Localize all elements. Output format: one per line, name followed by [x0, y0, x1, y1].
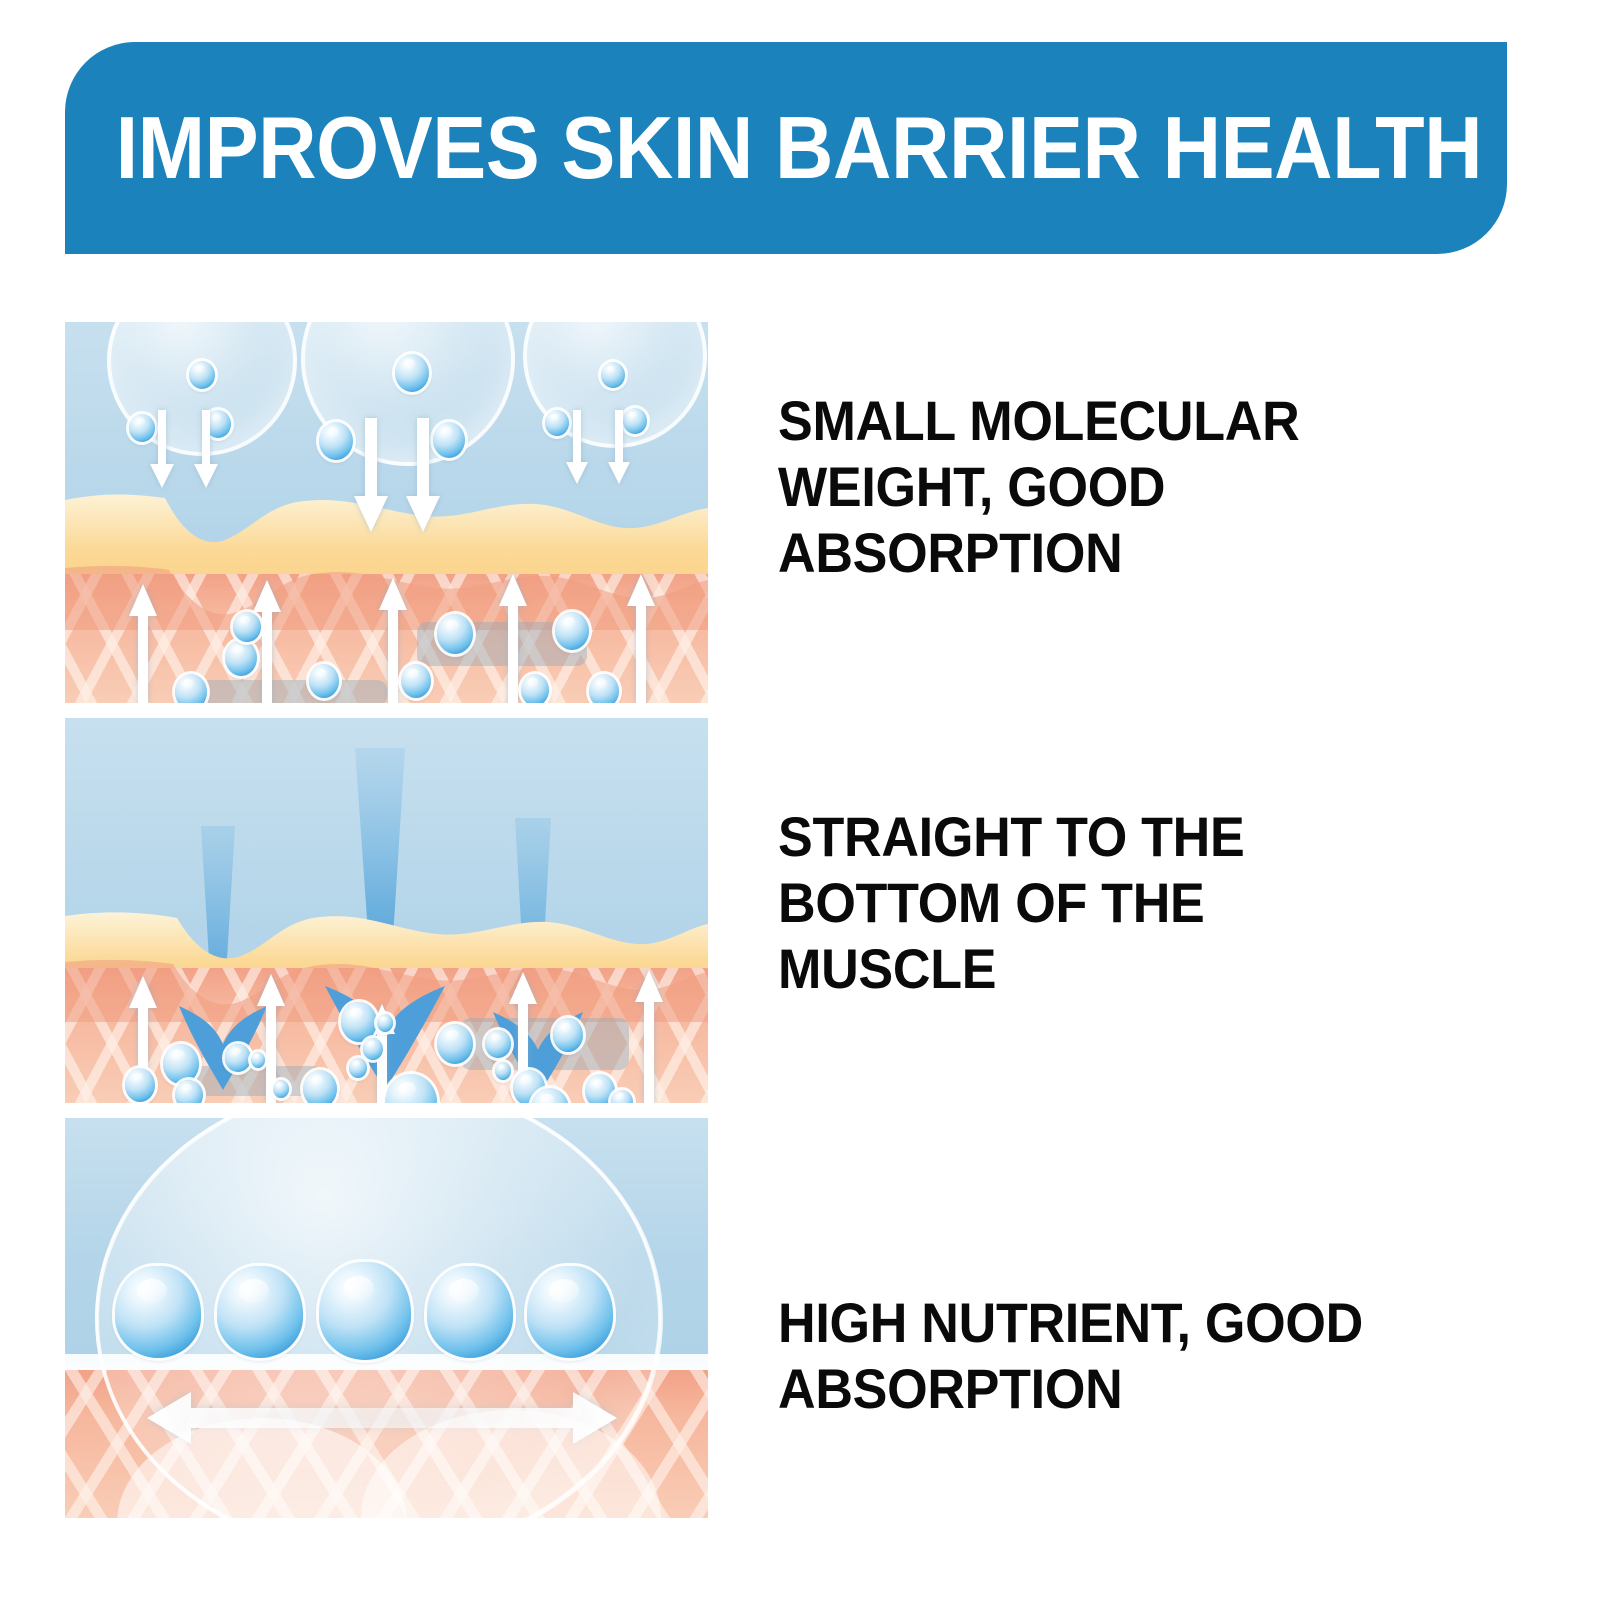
arrow-down-icon — [149, 410, 175, 488]
arrow-down-icon — [193, 410, 219, 488]
droplet — [125, 1068, 155, 1102]
feature-row-1: SMALL MOLECULAR WEIGHT, GOOD ABSORPTION — [65, 322, 1508, 703]
droplet — [521, 674, 549, 703]
droplet — [175, 1080, 203, 1103]
feature-caption-2: STRAIGHT TO THE BOTTOM OF THE MUSCLE — [778, 804, 1429, 1002]
arrow-down-icon — [353, 418, 389, 532]
droplet — [225, 1044, 251, 1072]
droplet — [319, 422, 353, 460]
arrow-up-icon — [625, 574, 657, 703]
shadow-patch-1b — [187, 680, 387, 703]
droplet — [485, 1030, 511, 1058]
bubble-bottom-curve — [95, 1118, 661, 1518]
droplet — [341, 1002, 377, 1042]
feature-caption-3: HIGH NUTRIENT, GOOD ABSORPTION — [778, 1290, 1429, 1422]
droplet — [437, 1024, 473, 1064]
arrow-down-icon — [405, 418, 441, 532]
droplet — [553, 1018, 583, 1052]
droplet — [363, 1038, 383, 1060]
droplet — [437, 614, 473, 654]
droplet — [377, 1014, 393, 1032]
droplet — [555, 612, 589, 650]
illustration-panel-1 — [65, 322, 708, 703]
droplet — [251, 1052, 265, 1068]
feature-row-2: STRAIGHT TO THE BOTTOM OF THE MUSCLE — [65, 718, 1508, 1103]
arrow-down-icon — [607, 410, 631, 484]
illustration-panel-2 — [65, 718, 708, 1103]
arrow-up-icon — [251, 580, 283, 703]
droplet — [495, 1062, 511, 1080]
droplet — [233, 612, 261, 642]
droplet — [401, 664, 431, 698]
arrow-down-icon — [565, 410, 589, 484]
arrow-up-icon — [127, 584, 159, 703]
arrow-up-icon — [633, 970, 665, 1103]
feature-caption-1: SMALL MOLECULAR WEIGHT, GOOD ABSORPTION — [778, 388, 1429, 586]
droplet — [601, 362, 625, 388]
droplet — [309, 664, 339, 698]
droplet — [349, 1058, 367, 1078]
content-rows: SMALL MOLECULAR WEIGHT, GOOD ABSORPTION — [0, 0, 1600, 1600]
droplet — [395, 354, 429, 392]
droplet — [303, 1070, 337, 1103]
droplet — [175, 674, 207, 703]
droplet — [225, 640, 257, 676]
droplet — [589, 674, 619, 703]
droplet — [163, 1044, 199, 1084]
droplet — [189, 361, 215, 389]
illustration-panel-3 — [65, 1118, 708, 1518]
droplet — [273, 1080, 289, 1098]
feature-row-3: HIGH NUTRIENT, GOOD ABSORPTION — [65, 1118, 1508, 1518]
